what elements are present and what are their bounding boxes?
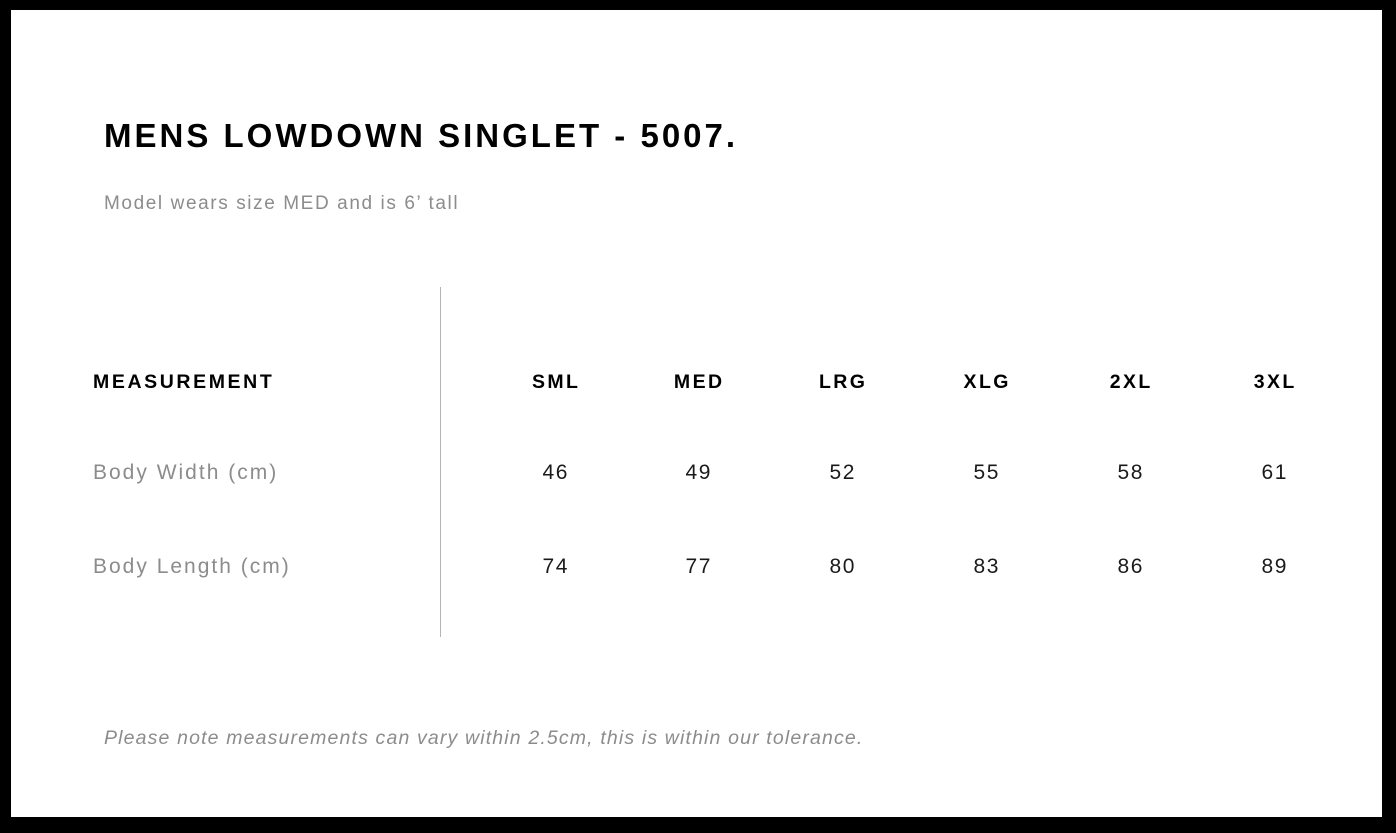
row-label-body-width: Body Width (cm) — [93, 453, 278, 493]
size-chart-table: MEASUREMENT SML MED LRG XLG 2XL 3XL Body… — [11, 10, 1382, 817]
cell-body-length-3xl: 89 — [1214, 547, 1334, 587]
tolerance-note: Please note measurements can vary within… — [104, 727, 863, 750]
cell-body-length-xlg: 83 — [926, 547, 1046, 587]
header-measurement: MEASUREMENT — [93, 362, 274, 402]
header-size-3xl: 3XL — [1214, 362, 1334, 402]
cell-body-length-lrg: 80 — [782, 547, 902, 587]
header-size-sml: SML — [495, 362, 615, 402]
header-size-lrg: LRG — [782, 362, 902, 402]
header-size-2xl: 2XL — [1070, 362, 1190, 402]
row-label-body-length: Body Length (cm) — [93, 547, 291, 587]
cell-body-width-sml: 46 — [495, 453, 615, 493]
header-size-med: MED — [638, 362, 758, 402]
cell-body-width-2xl: 58 — [1070, 453, 1190, 493]
cell-body-length-sml: 74 — [495, 547, 615, 587]
header-size-xlg: XLG — [926, 362, 1046, 402]
cell-body-length-2xl: 86 — [1070, 547, 1190, 587]
cell-body-width-med: 49 — [638, 453, 758, 493]
cell-body-width-xlg: 55 — [926, 453, 1046, 493]
table-row: Body Width (cm) 46 49 52 55 58 61 — [11, 453, 1382, 493]
table-row: Body Length (cm) 74 77 80 83 86 89 — [11, 547, 1382, 587]
size-chart-sheet: MENS LOWDOWN SINGLET - 5007. Model wears… — [11, 10, 1382, 817]
table-header-row: MEASUREMENT SML MED LRG XLG 2XL 3XL — [11, 362, 1382, 402]
cell-body-width-lrg: 52 — [782, 453, 902, 493]
cell-body-length-med: 77 — [638, 547, 758, 587]
cell-body-width-3xl: 61 — [1214, 453, 1334, 493]
poster-frame: MENS LOWDOWN SINGLET - 5007. Model wears… — [0, 0, 1396, 833]
